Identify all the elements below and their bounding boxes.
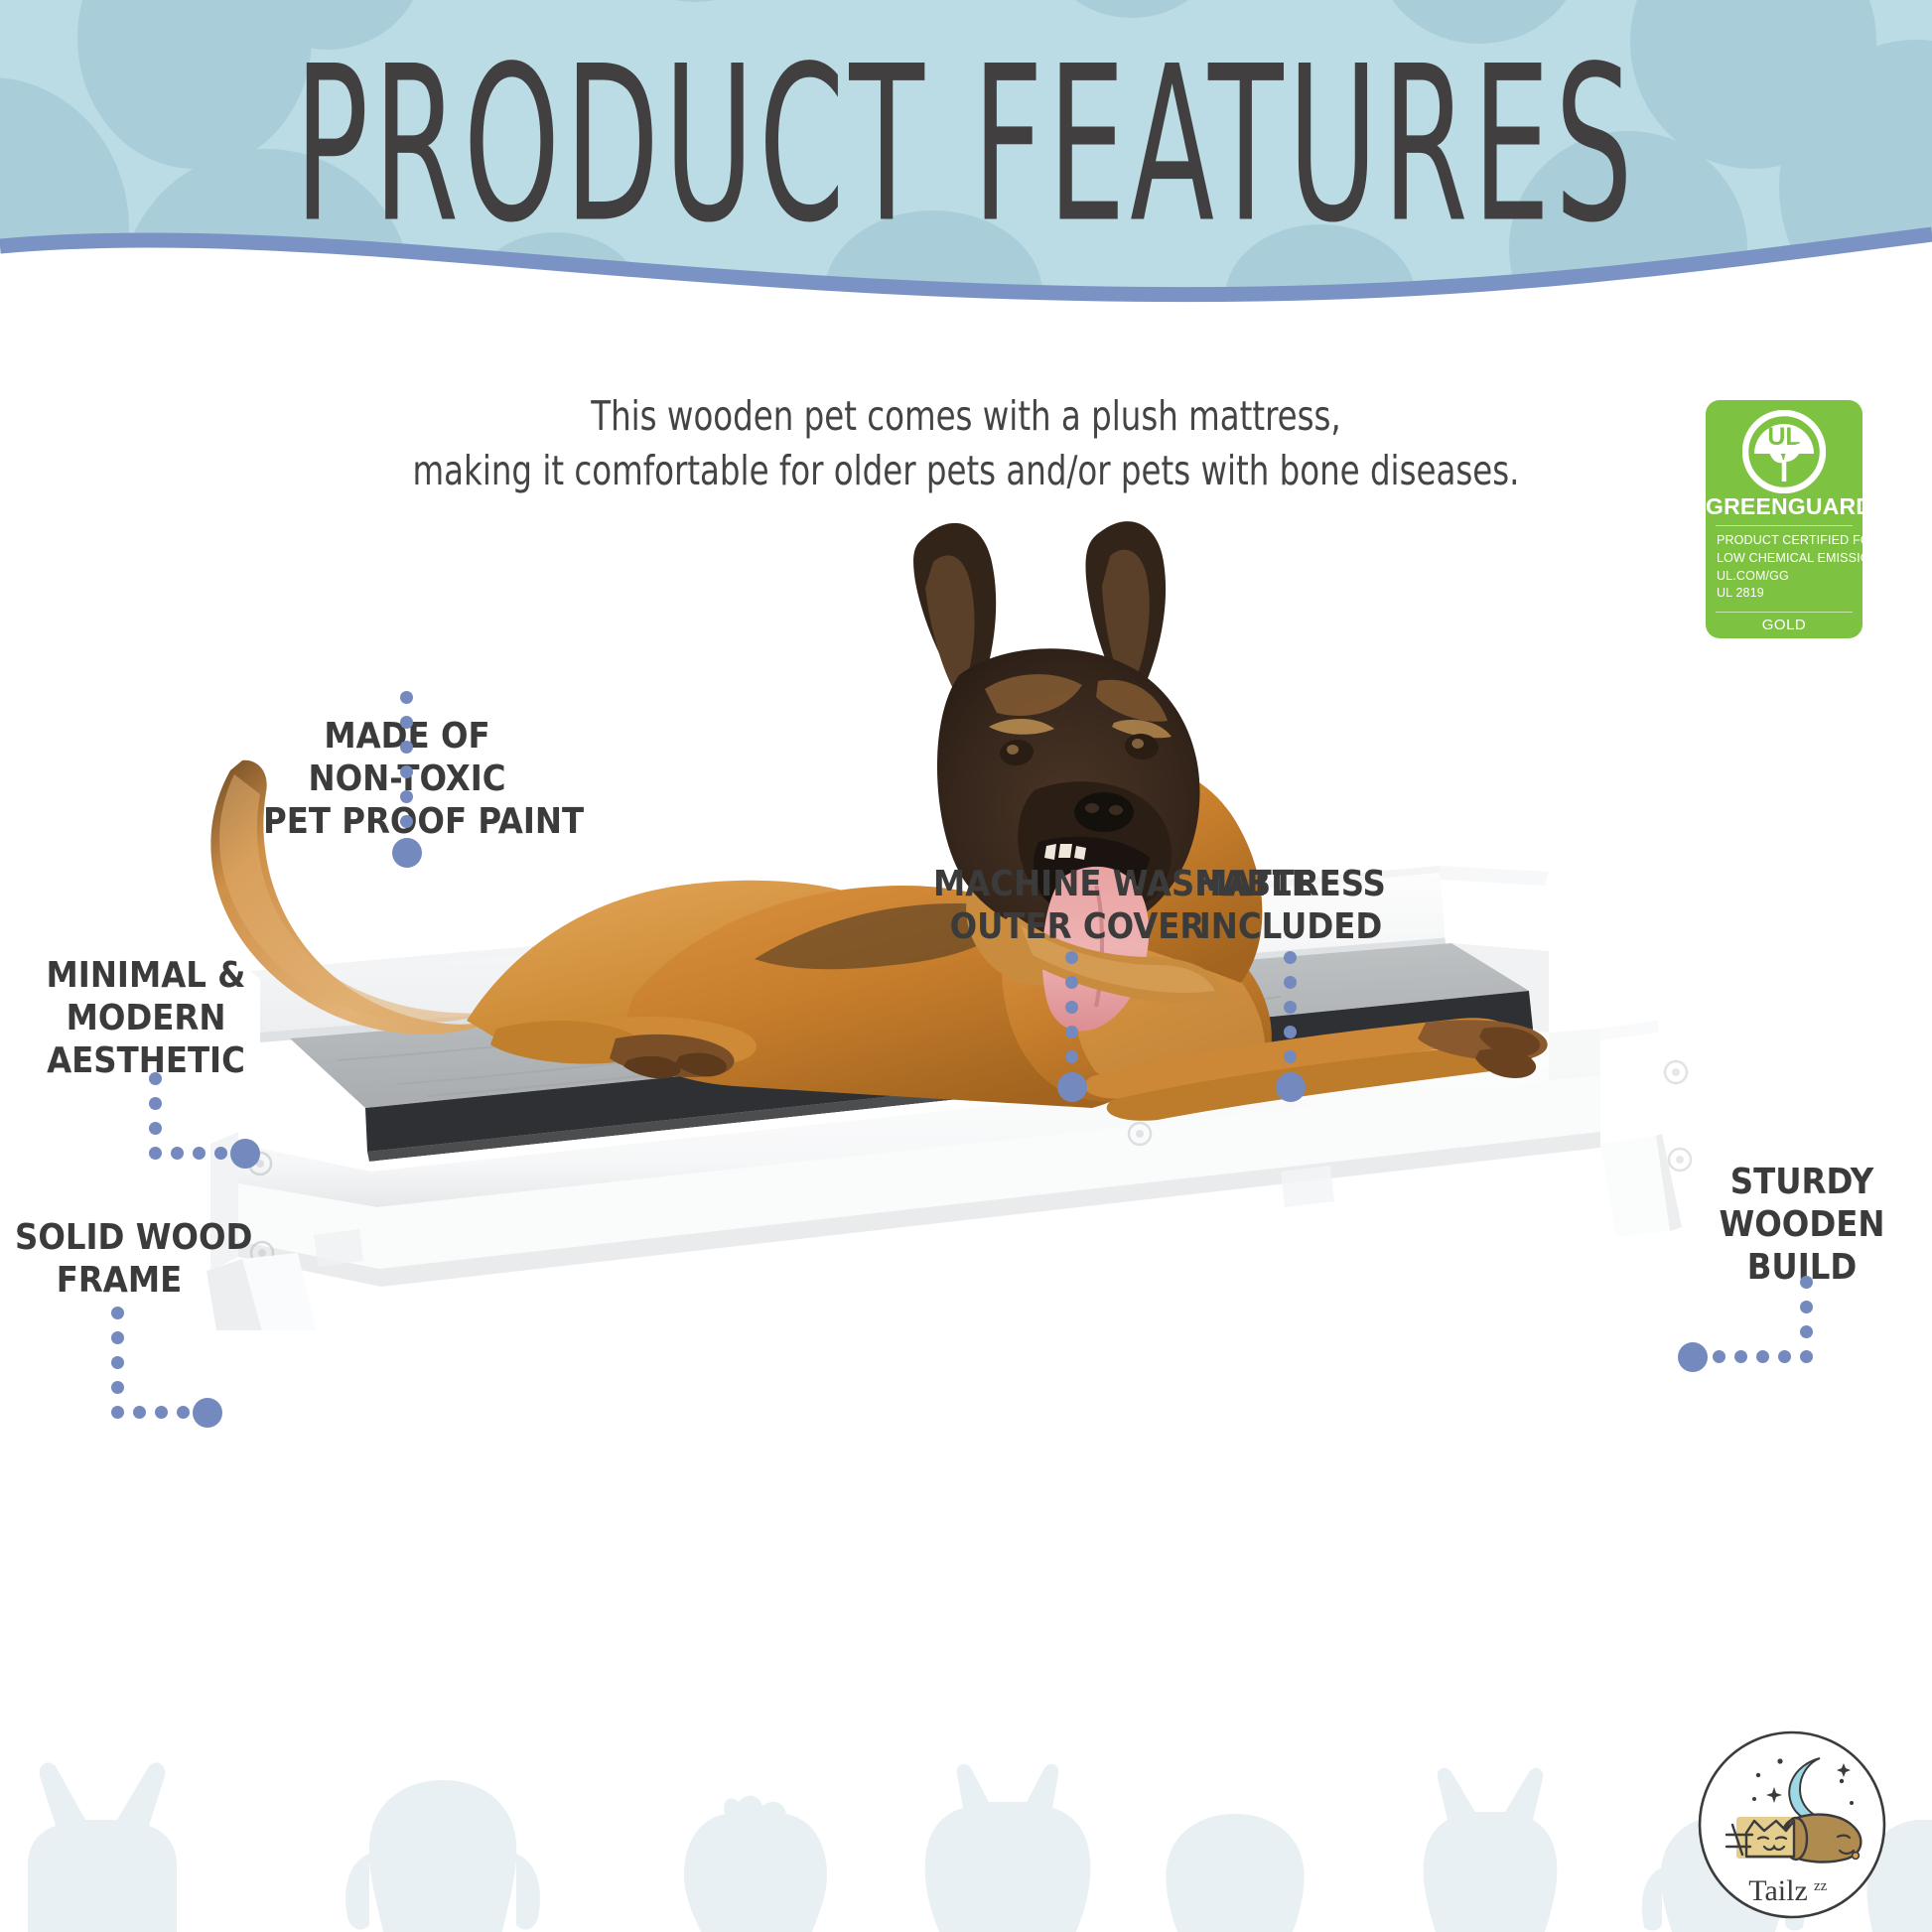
subtitle-line-1: This wooden pet comes with a plush mattr… (258, 389, 1674, 444)
leader-dot (400, 716, 413, 729)
callout-line: MACHINE WASHABLE (933, 864, 1221, 906)
leader-dot (171, 1147, 184, 1160)
callout-solid-wood-frame: SOLID WOOD FRAME (15, 1217, 223, 1303)
leader-dot (111, 1331, 124, 1344)
leader-endpoint (1276, 1072, 1306, 1102)
leader-dot (111, 1356, 124, 1369)
callout-line: STURDY (1688, 1162, 1916, 1204)
header-banner: PRODUCT FEATURES (0, 0, 1932, 308)
callout-line: SOLID WOOD (15, 1217, 223, 1260)
leader-dot (1284, 1026, 1297, 1038)
callout-machine-washable-outer-cover: MACHINE WASHABLE OUTER COVER (933, 864, 1221, 949)
callout-line: MATTRESS (1191, 864, 1390, 906)
leader-dot (133, 1406, 146, 1419)
callout-line: MODERN (42, 998, 250, 1040)
leader-dot (1284, 976, 1297, 989)
logo-wordmark: Tailz (1748, 1874, 1808, 1907)
leader-endpoint (230, 1139, 260, 1169)
leader-line-non-toxic-paint (400, 691, 434, 880)
leader-dot (1778, 1350, 1791, 1363)
callout-line: MINIMAL & (42, 955, 250, 998)
leader-dot (149, 1097, 162, 1110)
leader-dot (111, 1406, 124, 1419)
leader-line-mattress-included (1284, 951, 1317, 1140)
leader-dot (1713, 1350, 1725, 1363)
leader-endpoint (193, 1398, 222, 1428)
leader-dot (1065, 1001, 1078, 1014)
leader-dot (400, 765, 413, 778)
leader-dot (400, 815, 413, 828)
leader-dot (214, 1147, 227, 1160)
leader-dot (149, 1147, 162, 1160)
leader-endpoint (1057, 1072, 1087, 1102)
leader-dot (155, 1406, 168, 1419)
leader-dot (149, 1122, 162, 1135)
callout-line: INCLUDED (1191, 906, 1390, 949)
tailz-brand-logo: Tailz zz (1693, 1725, 1891, 1924)
logo-sleep-marks: zz (1814, 1878, 1828, 1894)
leader-dot (1756, 1350, 1769, 1363)
leader-dot (1284, 1050, 1297, 1063)
leader-dot (177, 1406, 190, 1419)
callout-mattress-included: MATTRESS INCLUDED (1191, 864, 1390, 949)
leader-dot (1065, 976, 1078, 989)
leader-line-sturdy-wooden-build (1666, 1276, 1815, 1399)
leader-dot (1800, 1301, 1813, 1313)
leader-endpoint (392, 838, 422, 868)
footer-pet-silhouettes (0, 1758, 1932, 1932)
leader-dot (1800, 1276, 1813, 1289)
leader-dot (400, 691, 413, 704)
leader-dot (111, 1307, 124, 1319)
leader-dot (1734, 1350, 1747, 1363)
leader-dot (193, 1147, 206, 1160)
leader-dot (149, 1072, 162, 1085)
leader-line-machine-washable (1065, 951, 1099, 1140)
leader-line-minimal-modern (149, 1072, 278, 1177)
leader-dot (111, 1381, 124, 1394)
page-title: PRODUCT FEATURES (68, 38, 1864, 252)
infographic-canvas: PRODUCT FEATURES This wooden pet comes w… (0, 0, 1932, 1932)
callout-minimal-modern-aesthetic: MINIMAL & MODERN AESTHETIC (42, 955, 250, 1082)
callout-line: WOODEN (1688, 1204, 1916, 1247)
callout-sturdy-wooden-build: STURDY WOODEN BUILD (1688, 1162, 1916, 1289)
leader-dot (1800, 1325, 1813, 1338)
callout-line: FRAME (15, 1260, 223, 1303)
leader-line-solid-wood-frame (111, 1307, 240, 1442)
leader-dot (1284, 951, 1297, 964)
leader-dot (1065, 1050, 1078, 1063)
leader-dot (400, 741, 413, 754)
leader-endpoint (1678, 1342, 1708, 1372)
leader-dot (400, 790, 413, 803)
leader-dot (1065, 951, 1078, 964)
leader-dot (1284, 1001, 1297, 1014)
leader-dot (1800, 1350, 1813, 1363)
callout-line: OUTER COVER (933, 906, 1221, 949)
leader-dot (1065, 1026, 1078, 1038)
